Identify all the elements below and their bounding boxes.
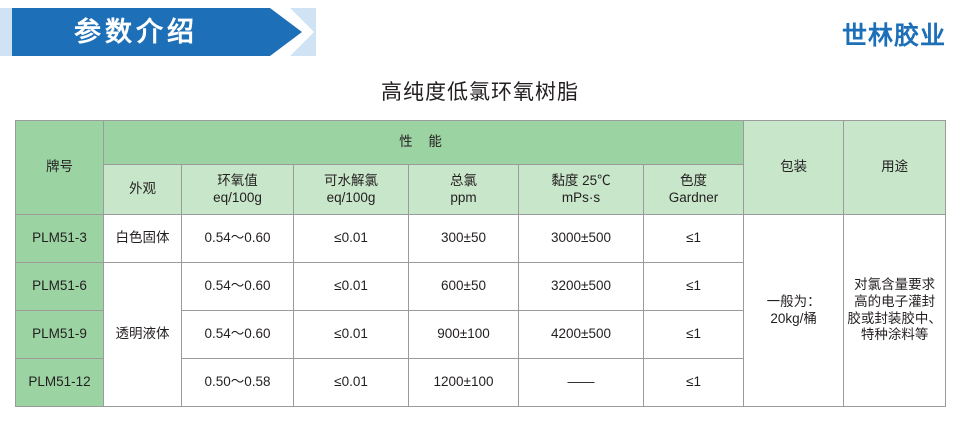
banner-title: 参数介绍 (12, 8, 198, 56)
cell-grade: PLM51-6 (16, 263, 104, 311)
cell-total-chlorine: 1200±100 (409, 359, 519, 407)
cell-hydrolyzable-chlorine: ≤0.01 (294, 311, 409, 359)
usage-line4: 特种涂料等 (847, 327, 942, 344)
cell-viscosity: 4200±500 (519, 311, 644, 359)
header-total-cl-line1: 总氯 (412, 173, 515, 190)
header-cell-usage: 用途 (844, 121, 946, 215)
cell-total-chlorine: 600±50 (409, 263, 519, 311)
header-cell-grade: 牌号 (16, 121, 104, 215)
usage-line3: 胶或封装胶中、 (847, 311, 942, 328)
header-cell-performance: 性 能 (104, 121, 744, 165)
header-cell-color: 色度 Gardner (644, 165, 744, 215)
cell-viscosity: 3000±500 (519, 215, 644, 263)
cell-grade: PLM51-12 (16, 359, 104, 407)
header-epoxy-line1: 环氧值 (185, 173, 290, 190)
header-epoxy-line2: eq/100g (185, 190, 290, 207)
cell-epoxy-value: 0.50～0.58 (182, 359, 294, 407)
header-color-line1: 色度 (647, 173, 740, 190)
table-row: PLM51-3 白色固体 0.54～0.60 ≤0.01 300±50 3000… (16, 215, 946, 263)
spec-table-wrapper: 牌号 性 能 包装 用途 外观 环氧值 eq/100g 可水解氯 eq/100g… (15, 120, 945, 407)
header-color-line2: Gardner (647, 190, 740, 207)
header-cell-total-chlorine: 总氯 ppm (409, 165, 519, 215)
cell-total-chlorine: 900±100 (409, 311, 519, 359)
cell-usage: 对氯含量要求 高的电子灌封 胶或封装胶中、 特种涂料等 (844, 215, 946, 407)
banner: 参数介绍 (0, 8, 330, 56)
cell-grade: PLM51-9 (16, 311, 104, 359)
header-viscosity-line1: 黏度 25℃ (522, 173, 640, 190)
header-hydrolyzable-line1: 可水解氯 (297, 173, 405, 190)
cell-total-chlorine: 300±50 (409, 215, 519, 263)
cell-hydrolyzable-chlorine: ≤0.01 (294, 263, 409, 311)
cell-epoxy-value: 0.54～0.60 (182, 311, 294, 359)
table-header-row-1: 牌号 性 能 包装 用途 (16, 121, 946, 165)
header-cell-epoxy-value: 环氧值 eq/100g (182, 165, 294, 215)
page-title: 高纯度低氯环氧树脂 (0, 76, 960, 106)
cell-color: ≤1 (644, 263, 744, 311)
page-header: 参数介绍 世林胶业 (0, 0, 960, 62)
cell-epoxy-value: 0.54～0.60 (182, 215, 294, 263)
cell-epoxy-value: 0.54～0.60 (182, 263, 294, 311)
cell-hydrolyzable-chlorine: ≤0.01 (294, 215, 409, 263)
packaging-line1: 一般为： (747, 294, 840, 311)
header-total-cl-line2: ppm (412, 190, 515, 207)
cell-hydrolyzable-chlorine: ≤0.01 (294, 359, 409, 407)
banner-ribbon: 参数介绍 (12, 8, 302, 56)
header-viscosity-line2: mPs·s (522, 190, 640, 207)
usage-line1: 对氯含量要求 (847, 277, 942, 294)
cell-color: ≤1 (644, 359, 744, 407)
company-brand: 世林胶业 (842, 16, 946, 52)
cell-color: ≤1 (644, 215, 744, 263)
cell-viscosity: —— (519, 359, 644, 407)
header-cell-appearance: 外观 (104, 165, 182, 215)
cell-color: ≤1 (644, 311, 744, 359)
header-hydrolyzable-line2: eq/100g (297, 190, 405, 207)
cell-appearance-solid: 白色固体 (104, 215, 182, 263)
cell-packaging: 一般为： 20kg/桶 (744, 215, 844, 407)
header-cell-hydrolyzable-chlorine: 可水解氯 eq/100g (294, 165, 409, 215)
header-cell-packaging: 包装 (744, 121, 844, 215)
cell-grade: PLM51-3 (16, 215, 104, 263)
cell-viscosity: 3200±500 (519, 263, 644, 311)
packaging-line2: 20kg/桶 (747, 311, 840, 328)
usage-line2: 高的电子灌封 (847, 294, 942, 311)
cell-appearance-liquid: 透明液体 (104, 263, 182, 407)
spec-table: 牌号 性 能 包装 用途 外观 环氧值 eq/100g 可水解氯 eq/100g… (15, 120, 946, 407)
header-cell-viscosity: 黏度 25℃ mPs·s (519, 165, 644, 215)
